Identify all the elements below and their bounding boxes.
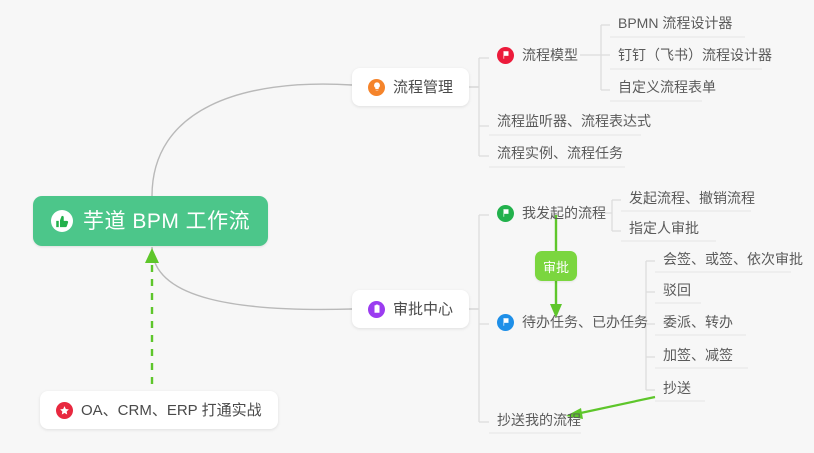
flag-icon bbox=[497, 314, 514, 331]
flag-icon bbox=[497, 205, 514, 222]
node-label: 钉钉（飞书）流程设计器 bbox=[618, 48, 772, 62]
branch-label: 审批中心 bbox=[393, 302, 453, 317]
star-icon bbox=[56, 402, 73, 419]
node-custom-process-form[interactable]: 自定义流程表单 bbox=[610, 72, 726, 102]
arrow-integration-head bbox=[145, 248, 159, 263]
clipboard-icon bbox=[368, 301, 385, 318]
node-label: 会签、或签、依次审批 bbox=[663, 252, 803, 266]
integration-label: OA、CRM、ERP 打通实战 bbox=[81, 403, 262, 418]
approve-tag-label: 审批 bbox=[543, 257, 569, 276]
branch-approval-center[interactable]: 审批中心 bbox=[352, 290, 469, 328]
root-label: 芋道 BPM 工作流 bbox=[83, 211, 250, 232]
node-label: 驳回 bbox=[663, 283, 691, 297]
node-label: 我发起的流程 bbox=[522, 206, 606, 220]
node-start-cancel-process[interactable]: 发起流程、撤销流程 bbox=[621, 183, 765, 213]
node-my-initiated-process[interactable]: 我发起的流程 bbox=[489, 198, 616, 228]
node-label: 流程模型 bbox=[522, 48, 578, 62]
node-countersign-or-sequential[interactable]: 会签、或签、依次审批 bbox=[655, 244, 813, 274]
wire-model-leads bbox=[601, 25, 610, 90]
approve-tag: 审批 bbox=[535, 251, 577, 281]
node-todo-done-task[interactable]: 待办任务、已办任务 bbox=[489, 307, 658, 337]
node-label: 发起流程、撤销流程 bbox=[629, 191, 755, 205]
node-add-remove-sign[interactable]: 加签、减签 bbox=[655, 340, 743, 370]
branch-label: 流程管理 bbox=[393, 80, 453, 95]
node-label: 自定义流程表单 bbox=[618, 80, 716, 94]
wire-root-to-process-management bbox=[152, 84, 352, 196]
node-label: 待办任务、已办任务 bbox=[522, 315, 648, 329]
node-cc[interactable]: 抄送 bbox=[655, 373, 701, 403]
flag-icon bbox=[497, 47, 514, 64]
root-node[interactable]: 芋道 BPM 工作流 bbox=[33, 196, 268, 246]
node-label: 流程监听器、流程表达式 bbox=[497, 114, 651, 128]
wire-ac-leads bbox=[479, 215, 489, 422]
node-label: 抄送我的流程 bbox=[497, 413, 581, 427]
node-cc-to-me-process[interactable]: 抄送我的流程 bbox=[489, 405, 591, 435]
node-label: 抄送 bbox=[663, 381, 691, 395]
node-assignee-approval[interactable]: 指定人审批 bbox=[621, 213, 709, 243]
wire-root-to-approval-center bbox=[152, 247, 352, 309]
node-label: 加签、减签 bbox=[663, 348, 733, 362]
node-label: BPMN 流程设计器 bbox=[618, 16, 732, 30]
mindmap-canvas: 芋道 BPM 工作流 流程管理 流程模型 BPMN 流程设计器 钉钉（飞书）流程… bbox=[0, 0, 814, 453]
lightbulb-icon bbox=[368, 79, 385, 96]
node-bpmn-designer[interactable]: BPMN 流程设计器 bbox=[610, 8, 742, 38]
node-delegate-transfer[interactable]: 委派、转办 bbox=[655, 307, 743, 337]
node-dingtalk-feishu-designer[interactable]: 钉钉（飞书）流程设计器 bbox=[610, 40, 782, 70]
branch-process-management[interactable]: 流程管理 bbox=[352, 68, 469, 106]
thumbs-up-icon bbox=[51, 210, 73, 232]
integration-node[interactable]: OA、CRM、ERP 打通实战 bbox=[40, 391, 278, 429]
node-reject[interactable]: 驳回 bbox=[655, 275, 701, 305]
node-label: 委派、转办 bbox=[663, 315, 733, 329]
node-process-instance-task[interactable]: 流程实例、流程任务 bbox=[489, 138, 633, 168]
wire-pm-leads bbox=[479, 58, 489, 156]
node-process-listener-expression[interactable]: 流程监听器、流程表达式 bbox=[489, 106, 661, 136]
node-label: 指定人审批 bbox=[629, 221, 699, 235]
node-process-model[interactable]: 流程模型 bbox=[489, 40, 588, 70]
node-label: 流程实例、流程任务 bbox=[497, 146, 623, 160]
